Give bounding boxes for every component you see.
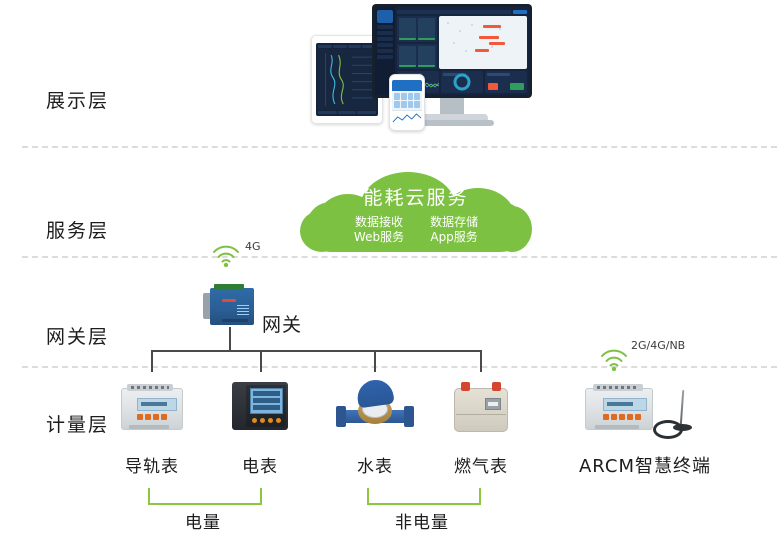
phone-app-chart <box>392 110 422 125</box>
tree-drop-1 <box>151 350 153 372</box>
cloud-service: 能耗云服务 数据接收 Web服务 数据存储 App服务 <box>300 172 532 254</box>
divider-service-gateway <box>22 256 777 258</box>
architecture-diagram: 展示层 服务层 网关层 计量层 <box>0 0 777 545</box>
tablet-chart <box>318 49 376 110</box>
divider-display-service <box>22 146 777 148</box>
terminal-label: ARCM智慧终端 <box>560 452 730 478</box>
gas-meter-inlet <box>461 382 470 391</box>
din-rail-buttons <box>137 414 167 420</box>
gateway-device <box>202 283 258 327</box>
tree-drop-4 <box>480 350 482 372</box>
meter-din-rail <box>119 382 185 432</box>
layer-label-service: 服务层 <box>46 216 109 243</box>
gateway-network-label: 4G <box>245 240 261 253</box>
electric-meter-lcd <box>250 388 283 414</box>
tree-bus <box>151 350 482 352</box>
meter-electric <box>232 380 292 432</box>
tree-drop-3 <box>374 350 376 372</box>
cloud-title: 能耗云服务 <box>363 183 468 210</box>
panel-gauge <box>441 71 483 93</box>
tablet-screen <box>316 43 378 116</box>
gateway-terminal-block <box>214 284 244 290</box>
tree-drop-2 <box>260 350 262 372</box>
tablet-line-chart <box>318 49 376 110</box>
divider-gateway-metering <box>22 366 777 368</box>
arcm-lcd <box>603 398 647 411</box>
meter-label-electric: 电表 <box>212 452 308 477</box>
cloud-service-1: 数据接收 Web服务 <box>354 215 404 245</box>
gateway-brand-mark <box>222 299 236 302</box>
meter-gas <box>452 380 510 434</box>
gas-meter-register <box>485 398 501 410</box>
layer-label-metering: 计量层 <box>46 410 109 437</box>
bracket-label-electric: 电量 <box>153 508 253 533</box>
gateway-body <box>210 288 254 325</box>
cloud-service-2: 数据存储 App服务 <box>430 215 478 245</box>
bracket-label-non-electric: 非电量 <box>372 508 472 533</box>
tablet-header-row <box>318 45 376 48</box>
phone-screen <box>392 80 422 125</box>
meter-label-gas: 燃气表 <box>433 452 529 477</box>
cloud-service-1-line2: Web服务 <box>354 230 404 245</box>
phone-sparkline <box>392 111 422 125</box>
bracket-electric <box>148 488 262 505</box>
arcm-terminal <box>583 382 655 434</box>
meter-label-din-rail: 导轨表 <box>104 452 200 477</box>
cloud-service-2-line2: App服务 <box>430 230 477 245</box>
wifi-icon <box>211 243 241 267</box>
antenna-icon <box>653 390 699 434</box>
dashboard-cards <box>397 16 437 69</box>
layer-label-gateway: 网关层 <box>46 322 109 349</box>
phone-app-header <box>392 80 422 91</box>
panel-alarm <box>485 71 527 93</box>
gateway-label: 网关 <box>262 310 302 337</box>
cloud-service-1-line1: 数据接收 <box>355 215 403 230</box>
bracket-non-electric <box>367 488 481 505</box>
dashboard-map <box>439 16 527 69</box>
terminal-network-label: 2G/4G/NB <box>631 339 685 352</box>
dashboard-logo <box>377 10 393 23</box>
tablet-footer-row <box>318 111 376 114</box>
din-rail-lcd <box>137 398 177 411</box>
meter-label-water: 水表 <box>327 452 423 477</box>
phone-app-grid <box>392 91 422 110</box>
water-meter-cap <box>355 378 394 409</box>
cloud-service-2-line1: 数据存储 <box>430 215 478 230</box>
wifi-icon <box>599 347 629 371</box>
meter-water <box>336 380 414 436</box>
phone-device <box>389 74 425 131</box>
layer-label-display: 展示层 <box>46 86 109 113</box>
tree-trunk <box>229 327 231 351</box>
arcm-buttons <box>603 414 641 420</box>
dashboard-topbar <box>397 9 527 14</box>
gas-meter-outlet <box>492 382 501 391</box>
electric-meter-buttons <box>252 418 281 423</box>
